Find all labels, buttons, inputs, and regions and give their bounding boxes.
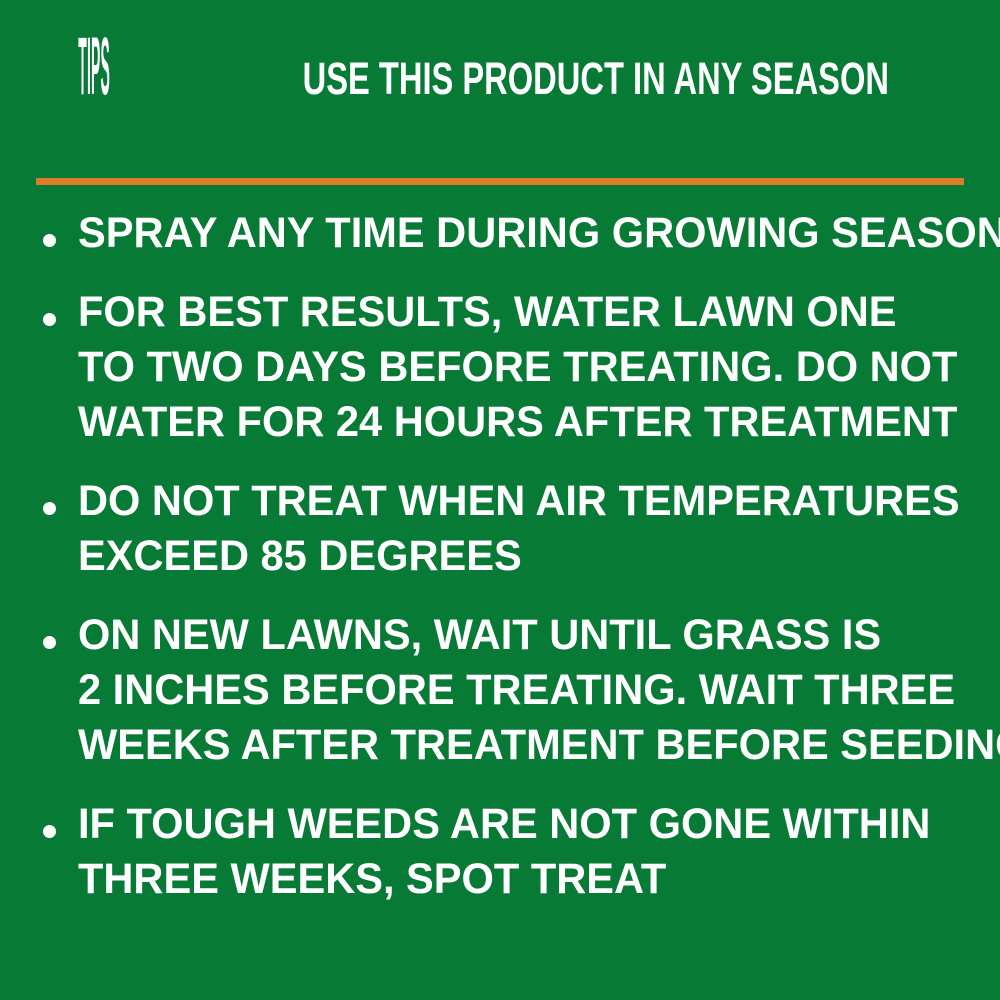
page-title: TIPS: [78, 0, 110, 108]
tip-text-line: IF TOUGH WEEDS ARE NOT GONE WITHIN: [78, 797, 930, 852]
tips-list: SPRAY ANY TIME DURING GROWING SEASONFOR …: [0, 206, 1000, 931]
bullet-dot-icon: [43, 825, 56, 838]
tip-text-line: EXCEED 85 DEGREES: [78, 529, 522, 584]
tip-text-line: TO TWO DAYS BEFORE TREATING. DO NOT: [78, 340, 957, 395]
tip-text-line: 2 INCHES BEFORE TREATING. WAIT THREE: [78, 663, 955, 718]
tip-text-line: DO NOT TREAT WHEN AIR TEMPERATURES: [78, 474, 960, 529]
tip-item: ON NEW LAWNS, WAIT UNTIL GRASS IS2 INCHE…: [0, 608, 1000, 773]
tip-text: ON NEW LAWNS, WAIT UNTIL GRASS IS2 INCHE…: [78, 608, 986, 773]
tip-text: DO NOT TREAT WHEN AIR TEMPERATURESEXCEED…: [78, 474, 986, 584]
tip-text-line: THREE WEEKS, SPOT TREAT: [78, 852, 666, 907]
bullet-dot-icon: [43, 234, 56, 247]
tip-text-line: FOR BEST RESULTS, WATER LAWN ONE: [78, 285, 897, 340]
tip-item: FOR BEST RESULTS, WATER LAWN ONETO TWO D…: [0, 285, 1000, 450]
tip-item: SPRAY ANY TIME DURING GROWING SEASON: [0, 206, 1000, 261]
bullet-dot-icon: [43, 502, 56, 515]
tips-panel: TIPS USE THIS PRODUCT IN ANY SEASON SPRA…: [0, 0, 1000, 1000]
header-divider: [36, 178, 964, 185]
tip-text-line: WEEKS AFTER TREATMENT BEFORE SEEDING: [78, 718, 1000, 773]
tip-text: FOR BEST RESULTS, WATER LAWN ONETO TWO D…: [78, 285, 986, 450]
tip-text-line: WATER FOR 24 HOURS AFTER TREATMENT: [78, 395, 957, 450]
bullet-dot-icon: [43, 313, 56, 326]
panel-header: TIPS USE THIS PRODUCT IN ANY SEASON: [0, 0, 1000, 108]
tip-text: IF TOUGH WEEDS ARE NOT GONE WITHINTHREE …: [78, 797, 986, 907]
tip-text-line: SPRAY ANY TIME DURING GROWING SEASON: [78, 206, 1000, 261]
tip-text-line: ON NEW LAWNS, WAIT UNTIL GRASS IS: [78, 608, 881, 663]
bullet-dot-icon: [43, 636, 56, 649]
tip-text: SPRAY ANY TIME DURING GROWING SEASON: [78, 206, 986, 261]
tip-item: DO NOT TREAT WHEN AIR TEMPERATURESEXCEED…: [0, 474, 1000, 584]
tip-item: IF TOUGH WEEDS ARE NOT GONE WITHINTHREE …: [0, 797, 1000, 907]
page-subtitle: USE THIS PRODUCT IN ANY SEASON: [302, 44, 888, 101]
